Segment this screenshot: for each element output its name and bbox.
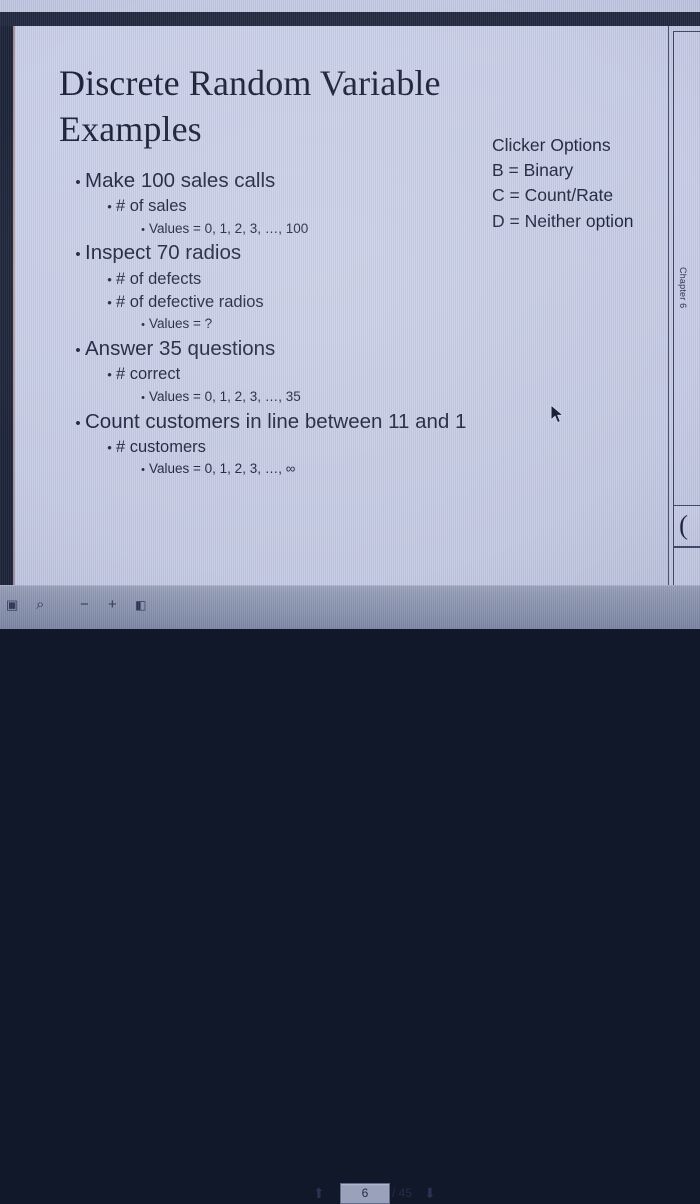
bullet-item-level-2: •# of defective radios <box>103 291 619 314</box>
zoom-out-icon[interactable]: − <box>80 598 89 612</box>
page-title-line-1: Discrete Random Variable <box>59 60 489 106</box>
bullet-marker-icon: • <box>137 223 149 239</box>
bullet-marker-icon: • <box>71 172 85 193</box>
bullet-text: Values = 0, 1, 2, 3, …, ∞ <box>149 459 295 479</box>
bullet-marker-icon: • <box>103 198 116 216</box>
bullet-item-level-1: •Count customers in line between 11 and … <box>71 407 619 436</box>
next-page-button[interactable]: ⬇ <box>424 1184 436 1202</box>
pdf-viewer-canvas[interactable]: Discrete Random Variable Examples Clicke… <box>15 26 700 585</box>
bullet-item-level-2: •# of sales <box>103 195 619 218</box>
bullet-text: Answer 35 questions <box>85 334 275 363</box>
bullet-text: Count customers in line between 11 and 1 <box>85 407 466 436</box>
fit-page-icon[interactable]: ◧ <box>135 598 146 612</box>
bullet-item-level-1: •Make 100 sales calls <box>71 166 619 195</box>
monitor-photo: Discrete Random Variable Examples Clicke… <box>0 0 700 628</box>
window-left-gutter <box>0 26 13 585</box>
next-slide-paren-glyph: ( <box>679 510 688 541</box>
bullet-marker-icon: • <box>71 244 85 265</box>
bullet-item-level-3: •Values = 0, 1, 2, 3, …, 100 <box>137 219 619 239</box>
bullet-item-level-3: •Values = 0, 1, 2, 3, …, 35 <box>137 387 619 407</box>
next-slide-vertical-label: Chapter 6 <box>678 267 688 308</box>
bullet-text: # correct <box>116 363 180 386</box>
next-slide-sheet-bottom <box>673 547 700 585</box>
viewer-toolbar[interactable]: ▣ ⌕ − + ◧ ⬆ 6 / 45 ⬇ <box>0 585 700 629</box>
next-slide-sheet: Chapter 6 <box>673 31 700 506</box>
bullet-text: # of sales <box>116 195 187 218</box>
bullet-marker-icon: • <box>137 391 149 407</box>
bullet-item-level-1: •Inspect 70 radios <box>71 238 619 267</box>
page-title: Discrete Random Variable Examples <box>59 60 489 152</box>
page-number-input[interactable]: 6 <box>340 1183 390 1204</box>
bullet-text: Values = 0, 1, 2, 3, …, 100 <box>149 219 308 239</box>
clicker-options-heading: Clicker Options <box>492 133 682 158</box>
bullet-text: # of defective radios <box>116 291 264 314</box>
page-total-label: / 45 <box>392 1184 412 1202</box>
bullet-text: Inspect 70 radios <box>85 238 241 267</box>
bullet-item-level-3: •Values = 0, 1, 2, 3, …, ∞ <box>137 459 619 479</box>
bullet-marker-icon: • <box>137 318 149 334</box>
bullet-marker-icon: • <box>71 340 85 361</box>
window-title-bar <box>0 12 700 26</box>
next-slide-peek[interactable]: Chapter 6 ( 6 <box>670 26 700 585</box>
bullet-item-level-1: •Answer 35 questions <box>71 334 619 363</box>
bullet-marker-icon: • <box>71 413 85 434</box>
bullet-text: # of defects <box>116 268 201 291</box>
slide-page-6: Discrete Random Variable Examples Clicke… <box>15 26 669 585</box>
bullet-marker-icon: • <box>103 271 116 289</box>
bullet-marker-icon: • <box>103 294 116 312</box>
bullet-item-level-2: •# correct <box>103 363 619 386</box>
bullet-text: Values = 0, 1, 2, 3, …, 35 <box>149 387 301 407</box>
bullet-item-level-3: •Values = ? <box>137 314 619 334</box>
window-top-strip <box>0 0 700 12</box>
bullet-marker-icon: • <box>103 366 116 384</box>
bullet-list: •Make 100 sales calls•# of sales•Values … <box>59 166 619 479</box>
sidebar-toggle-icon[interactable]: ▣ <box>6 598 18 612</box>
bullet-text: Make 100 sales calls <box>85 166 275 195</box>
bullet-text: Values = ? <box>149 314 212 334</box>
bullet-text: # customers <box>116 436 206 459</box>
zoom-in-icon[interactable]: + <box>108 598 117 612</box>
page-title-line-2: Examples <box>59 106 489 152</box>
bullet-marker-icon: • <box>137 463 149 479</box>
bullet-item-level-2: •# of defects <box>103 268 619 291</box>
bullet-marker-icon: • <box>103 439 116 457</box>
search-icon[interactable]: ⌕ <box>36 598 44 612</box>
previous-page-button[interactable]: ⬆ <box>313 1184 325 1202</box>
bullet-item-level-2: •# customers <box>103 436 619 459</box>
